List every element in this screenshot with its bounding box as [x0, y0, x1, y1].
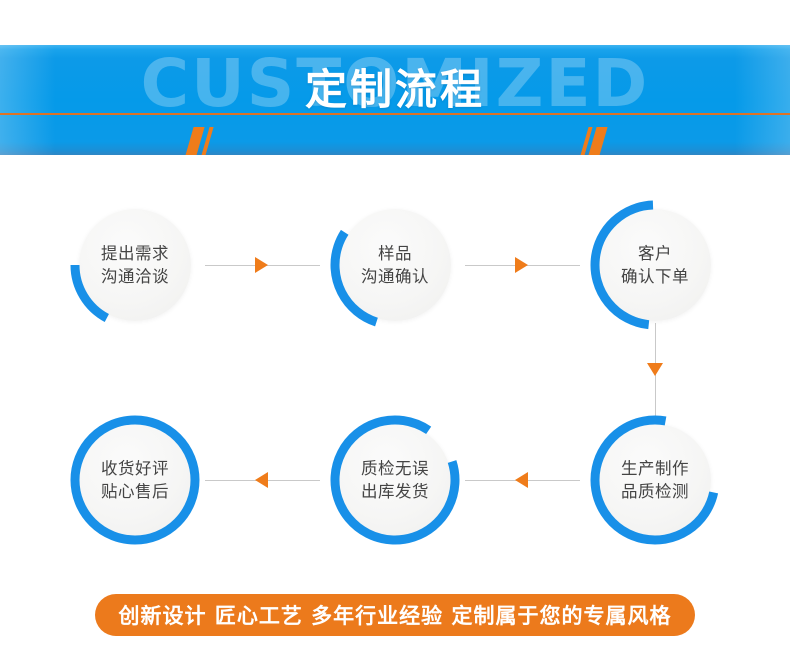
- flow-step-4-label: 生产制作 品质检测: [590, 415, 720, 545]
- flow-step-5-line2: 出库发货: [361, 480, 429, 503]
- flow-step-1-line1: 提出需求: [101, 242, 169, 265]
- flow-step-4-line1: 生产制作: [621, 457, 689, 480]
- arrow-step4-step5-icon: [515, 472, 528, 488]
- flow-step-4[interactable]: 生产制作 品质检测: [590, 415, 720, 545]
- flow-step-3[interactable]: 客户 确认下单: [590, 200, 720, 330]
- arrow-step5-step6-icon: [255, 472, 268, 488]
- flow-step-6-line1: 收货好评: [101, 457, 169, 480]
- footer-tagline-banner: 创新设计 匠心工艺 多年行业经验 定制属于您的专属风格: [95, 594, 695, 636]
- footer-tagline-text: 创新设计 匠心工艺 多年行业经验 定制属于您的专属风格: [119, 600, 672, 630]
- flow-step-1[interactable]: 提出需求 沟通洽谈: [70, 200, 200, 330]
- flow-step-2[interactable]: 样品 沟通确认: [330, 200, 460, 330]
- flow-step-2-line1: 样品: [378, 242, 412, 265]
- flow-step-3-label: 客户 确认下单: [590, 200, 720, 330]
- flow-step-2-line2: 沟通确认: [361, 265, 429, 288]
- process-flow-diagram: 提出需求 沟通洽谈 样品 沟通确认 客户 确认下单 生产制作 品: [0, 155, 790, 575]
- flow-step-3-line1: 客户: [638, 242, 672, 265]
- arrow-step3-step4-icon: [647, 363, 663, 376]
- flow-step-5-line1: 质检无误: [361, 457, 429, 480]
- flow-step-6[interactable]: 收货好评 贴心售后: [70, 415, 200, 545]
- flow-step-1-line2: 沟通洽谈: [101, 265, 169, 288]
- flow-step-1-label: 提出需求 沟通洽谈: [70, 200, 200, 330]
- flow-step-6-line2: 贴心售后: [101, 480, 169, 503]
- flow-step-6-label: 收货好评 贴心售后: [70, 415, 200, 545]
- header-banner: CUSTOMIZED 定制流程: [0, 45, 790, 155]
- flow-step-4-line2: 品质检测: [621, 480, 689, 503]
- arrow-step2-step3-icon: [515, 257, 528, 273]
- arrow-step1-step2-icon: [255, 257, 268, 273]
- page-title: 定制流程: [0, 69, 790, 111]
- flow-step-5-label: 质检无误 出库发货: [330, 415, 460, 545]
- flow-step-2-label: 样品 沟通确认: [330, 200, 460, 330]
- flow-step-3-line2: 确认下单: [621, 265, 689, 288]
- flow-step-5[interactable]: 质检无误 出库发货: [330, 415, 460, 545]
